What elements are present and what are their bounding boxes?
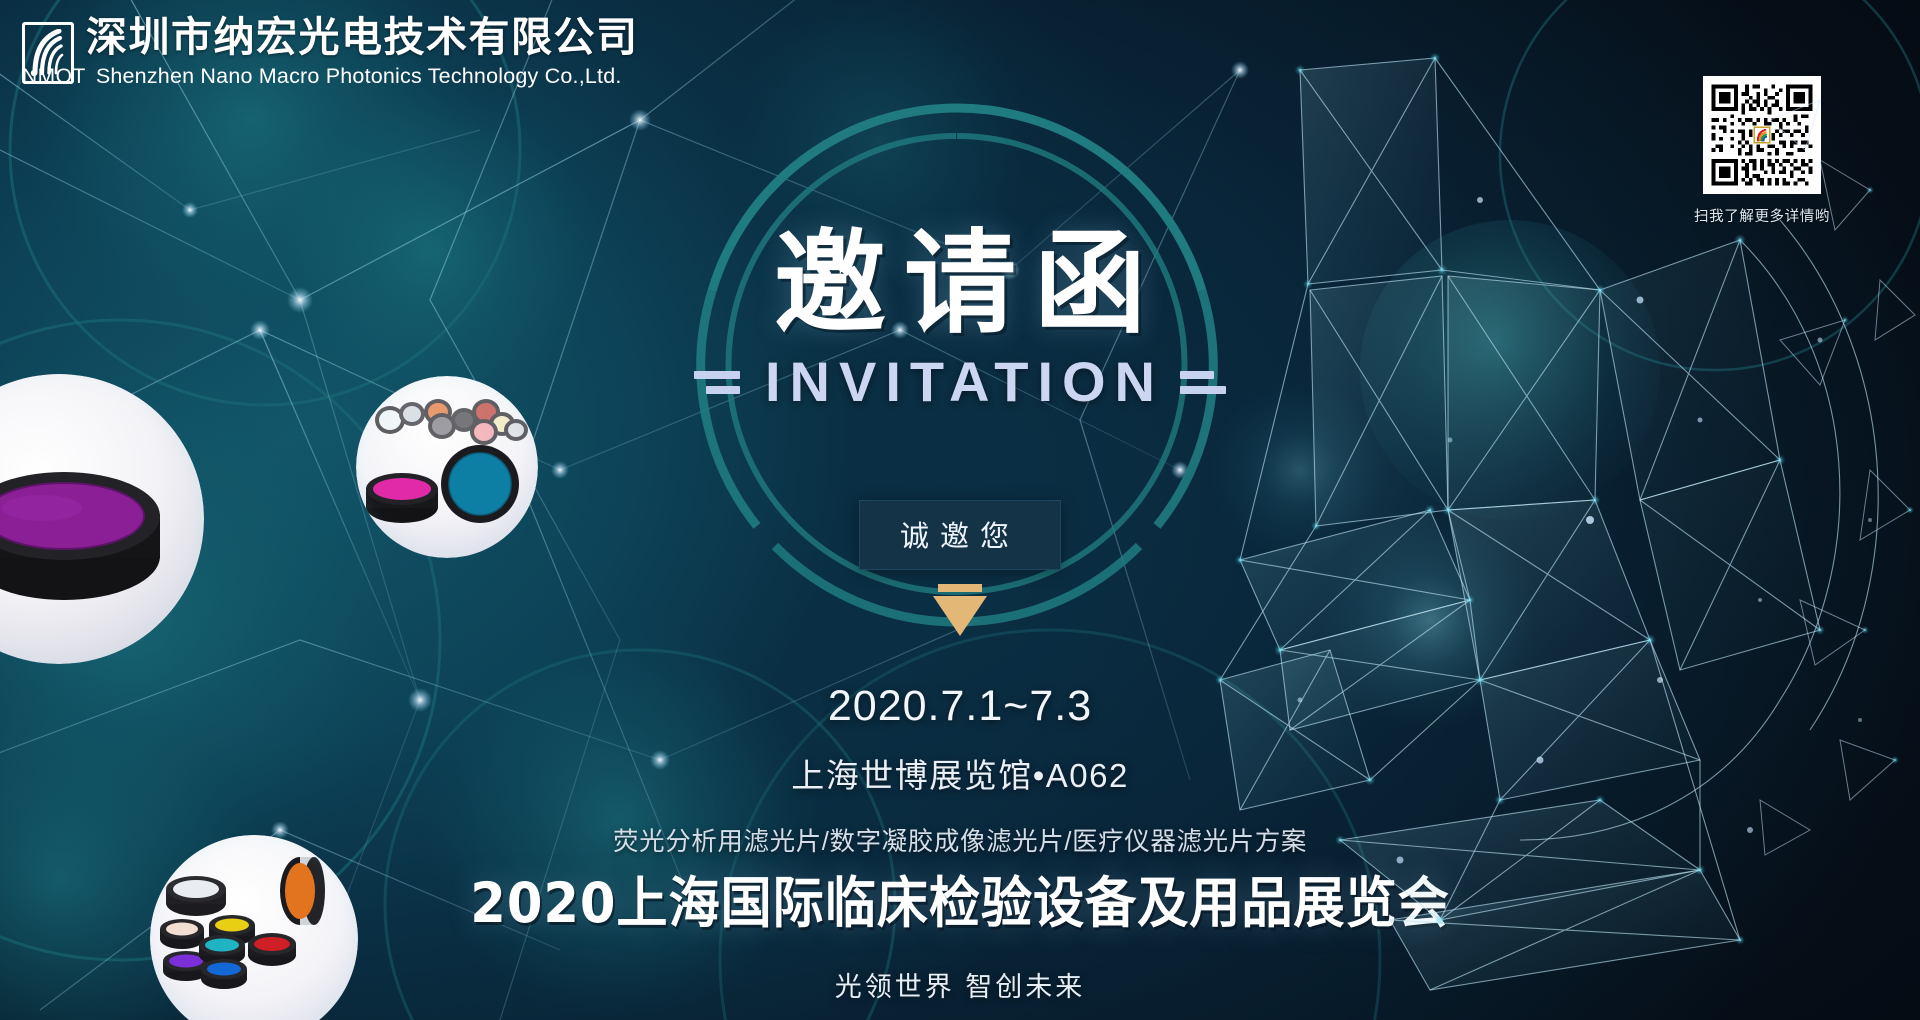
wireframe-microscope-icon xyxy=(1180,40,1920,1020)
cta-label: 诚邀您 xyxy=(900,521,1020,553)
cta-plate[interactable]: 诚邀您 xyxy=(859,500,1061,570)
purple-optical-filter-photo xyxy=(0,374,204,664)
company-logo: 深圳市纳宏光电技术有限公司 NMOT Shenzhen Nano Macro P… xyxy=(22,14,639,89)
invitation-title-en: INVITATION xyxy=(756,354,1164,410)
company-name-en: Shenzhen Nano Macro Photonics Technology… xyxy=(96,64,622,89)
color-filter-set-photo xyxy=(150,835,358,1020)
invitation-banner: 深圳市纳宏光电技术有限公司 NMOT Shenzhen Nano Macro P… xyxy=(0,0,1920,1020)
equals-decor-left-icon xyxy=(694,371,740,394)
company-name-cn: 深圳市纳宏光电技术有限公司 xyxy=(86,14,639,61)
nmot-signal-logo-icon xyxy=(22,22,74,84)
magenta-teal-filter-photo xyxy=(356,376,538,558)
